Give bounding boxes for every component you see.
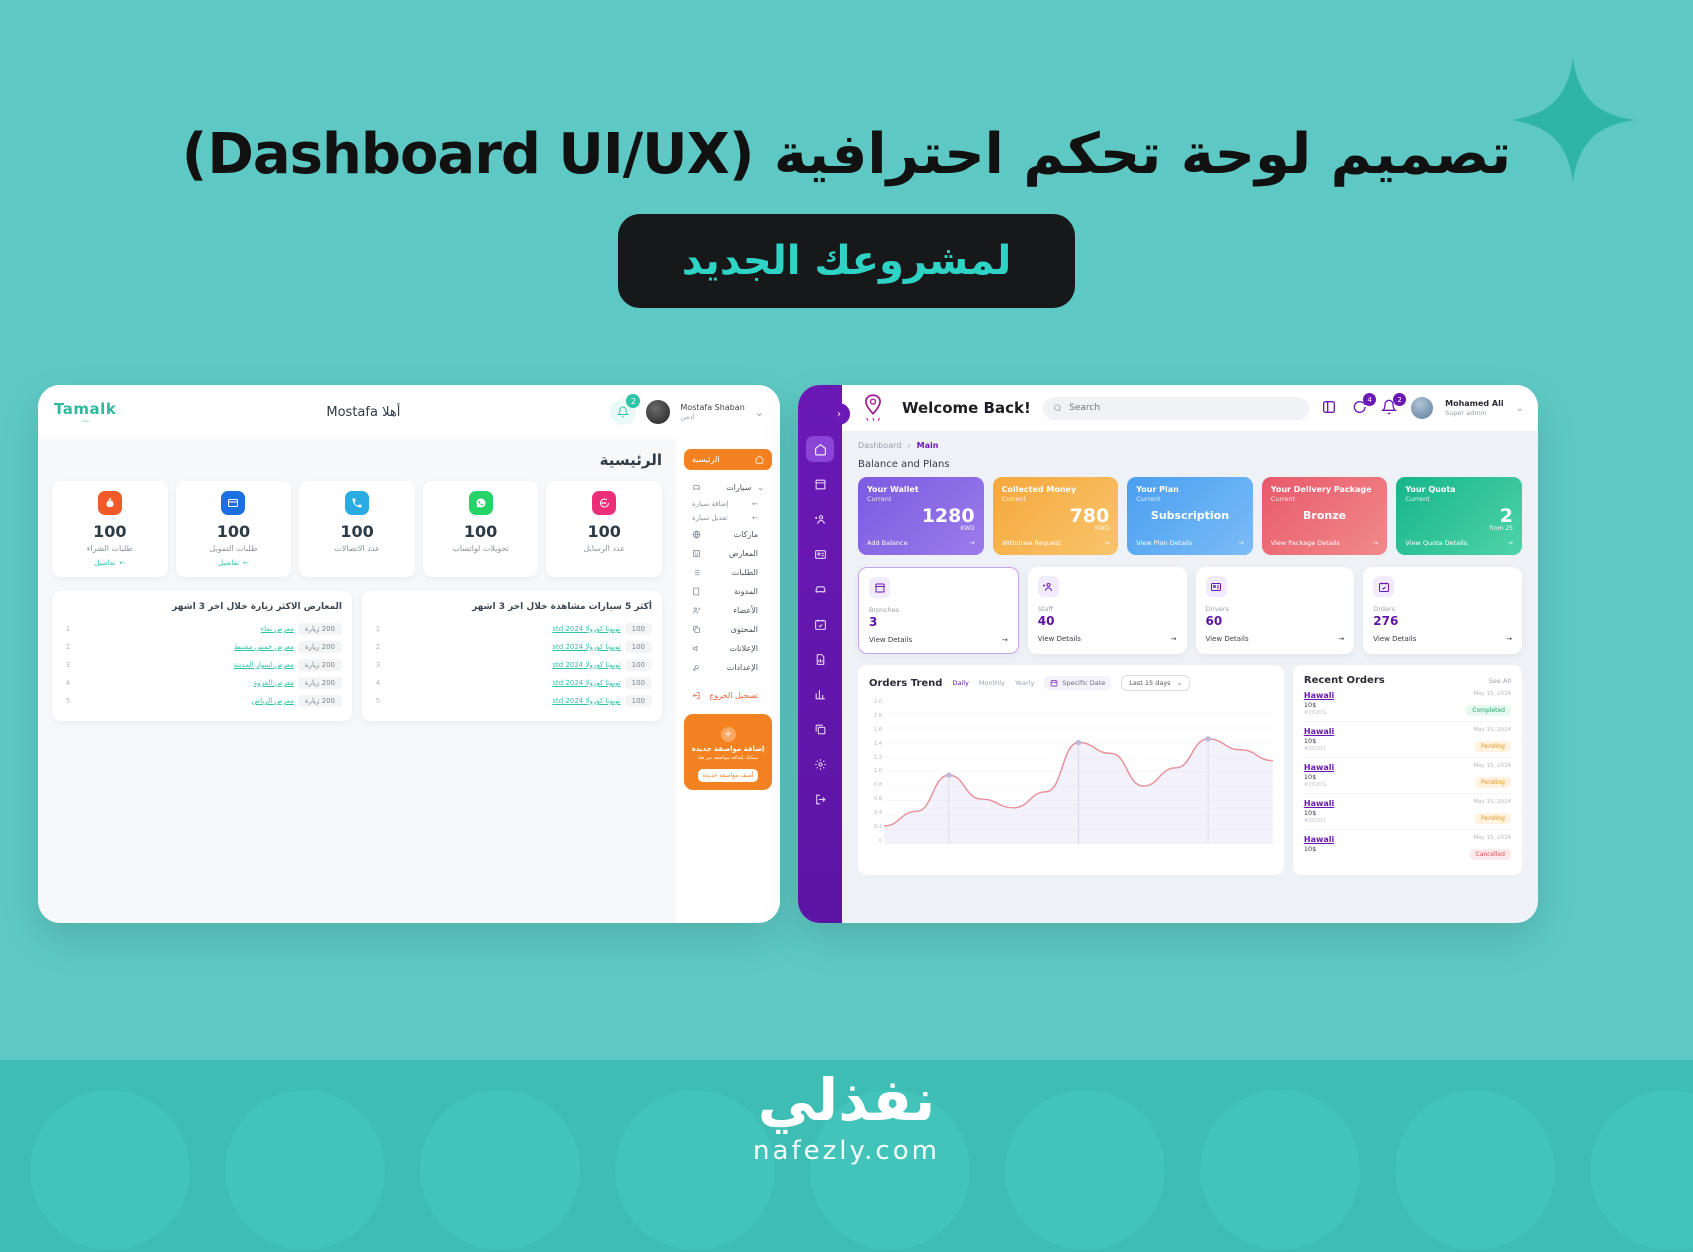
kpi-value: 3 [869,615,1008,629]
stat-value: 100 [305,522,409,541]
table-row[interactable]: 200 زيارة معرض الفروة 4 [62,674,342,692]
order-name[interactable]: Hawali [1304,835,1334,844]
cell-index: 3 [372,661,384,669]
arrow-right-icon: → [1002,636,1008,644]
cell-index: 1 [62,625,74,633]
whatsapp-icon [469,491,493,515]
cell-value: 100 [625,677,652,689]
cell-value: 200 زيارة [298,677,342,689]
order-price: 10$ [1304,809,1334,817]
arrow-right-icon: → [1506,635,1512,643]
kpi-link[interactable]: View Details → [1206,635,1345,643]
sidebar-item-label: إضافة سيارة [692,500,729,508]
plan-subtitle: Current [1002,495,1110,503]
sidebar-item-brands[interactable]: ماركات [684,525,772,544]
stat-more-link[interactable]: ← تفاصيل [58,559,162,567]
kpi-label: Bronches [869,606,1008,614]
stat-card[interactable]: 100 طلبات الشراء ← تفاصيل [52,481,168,577]
kpi-link[interactable]: View Details → [869,636,1008,644]
stat-label: تحويلات لواتساب [429,544,533,553]
cell-value: 200 زيارة [298,695,342,707]
notifications-button[interactable]: 2 [1381,399,1399,417]
stat-card[interactable]: 100 تحويلات لواتساب [423,481,539,577]
plan-word: Subscription [1136,509,1244,522]
kpi-label: Orders [1373,605,1512,613]
logout-icon [692,691,701,700]
chevron-down-icon[interactable]: ⌄ [755,406,764,419]
stat-card[interactable]: 100 عدد الرسايل [546,481,662,577]
poster-headline-block: تصميم لوحة تحكم احترافية (Dashboard UI/U… [0,120,1693,308]
plan-unit: KWD [1002,525,1110,532]
kpi-link-label: View Details [1206,635,1249,643]
cell-index: 3 [62,661,74,669]
order-date: May 15, 2024 [1473,799,1511,805]
order-date: May 15, 2024 [1473,727,1511,733]
plan-cards-row: Your Wallet Current 1280 KWD Add Balance… [858,477,1522,555]
status-badge: Pending [1475,813,1511,824]
chevron-down-icon[interactable]: ⌄ [1516,403,1524,414]
card-icon [221,491,245,515]
order-price: 10$ [1304,737,1334,745]
cell-value: 100 [625,623,652,635]
cell-name[interactable]: تويوتا كورولا 2024 std [384,661,625,669]
sidebar-item-cars[interactable]: ⌄ سيارات [684,478,772,497]
sidebar-item-label: الأعضاء [701,606,764,615]
chart-tab-yearly[interactable]: Yearly [1015,679,1034,687]
table-row[interactable]: 100 تويوتا كورولا 2024 std 3 [372,656,652,674]
plan-value: 780 [1002,505,1110,527]
cell-value: 100 [625,695,652,707]
plan-card-delivery-package[interactable]: Your Delivery Package Current Bronze Vie… [1262,477,1388,555]
chevron-down-icon: ⌄ [757,483,764,492]
cell-name[interactable]: معرض الرياض [74,697,298,705]
kpi-link-label: View Details [1373,635,1416,643]
brand-logo: Tamalk تملك [54,402,116,423]
plan-subtitle: Current [1405,495,1513,503]
cell-name[interactable]: معرض الفروة [74,679,298,687]
section-title: Balance and Plans [858,459,1522,470]
bell-icon [617,406,629,418]
order-price: 10$ [1304,701,1334,709]
promo-button[interactable]: أضف مواصفة جديدة [698,769,759,782]
arabic-user-cluster[interactable]: ⌄ Mostafa Shaban ادمن 2 [610,399,764,425]
arrow-right-icon: → [1373,539,1378,547]
english-topbar: Welcome Back! 4 2 Mohamed [842,385,1538,431]
search-input[interactable] [1069,403,1299,413]
plan-unit: KWD [867,525,975,532]
cell-name[interactable]: معرض اسوار المدينة [74,661,298,669]
top-exhibitions-table: المعارض الاكثر زيارة خلال اخر 3 اشهر 200… [52,591,352,721]
range-select-value: Last 15 days [1129,679,1170,687]
phone-icon [345,491,369,515]
order-date: May 15, 2024 [1473,763,1511,769]
arrow-right-icon: → [1338,635,1344,643]
kpi-card-drivers[interactable]: Drivers 60 View Details → [1196,567,1355,654]
kpi-value: 60 [1206,614,1345,628]
stat-more-label: تفاصيل [218,559,239,567]
cell-index: 2 [372,643,384,651]
plan-card-collected-money[interactable]: Collected Money Current 780 KWD Withdraw… [993,477,1119,555]
recent-orders-header: Recent Orders See All [1304,675,1511,686]
range-select[interactable]: Last 15 days ⌄ [1121,675,1190,691]
wrench-icon [692,663,701,672]
search-bar[interactable] [1043,397,1309,420]
table-row[interactable]: 200 زيارة معرض الرياض 5 [62,692,342,710]
sidebar-item-label: المحتوى [701,625,764,634]
orders-trend-chart: Orders Trend Daily Monthly Yearly Specif… [858,665,1284,875]
cell-name[interactable]: معرض خمس مشبط [74,643,298,651]
kpi-cards-row: Bronches 3 View Details → Staff 40 View … [858,567,1522,654]
stat-label: عدد الاتصالات [305,544,409,553]
order-row[interactable]: Hawali 10$ #20201 May 15, 2024 Completed [1304,686,1511,722]
headline-pill: لمشروعك الجديد [618,214,1076,308]
plan-action[interactable]: View Plan Details → [1136,532,1244,547]
status-badge: Pending [1475,777,1511,788]
english-sidebar-rail [798,385,842,923]
order-id: #20201 [1304,746,1334,752]
notification-badge: 2 [1393,393,1406,406]
add-user-icon [814,513,827,526]
avatar[interactable] [646,400,670,424]
y-tick: 0.2 [869,824,882,830]
order-name[interactable]: Hawali [1304,763,1334,772]
stat-value: 100 [429,522,533,541]
chat-icon [592,491,616,515]
y-tick: 1.4 [869,741,882,747]
cell-name[interactable]: معرض نماء [74,625,298,633]
chart-title: Orders Trend [869,678,942,689]
order-row[interactable]: Hawali 10$ #20201 May 15, 2024 Pending [1304,758,1511,794]
table-title: أكثر 5 سيارات مشاهدة خلال اخر 3 اشهر [372,602,652,612]
home-icon [755,455,764,464]
kpi-card-orders[interactable]: Orders 276 View Details → [1363,567,1522,654]
sidebar-item-label: سيارات [701,483,757,492]
status-badge: Pending [1475,741,1511,752]
plan-action-label: View Package Details [1271,539,1340,547]
table-title: المعارض الاكثر زيارة خلال اخر 3 اشهر [62,602,342,612]
table-row[interactable]: 200 زيارة معرض اسوار المدينة 3 [62,656,342,674]
kpi-card-branches[interactable]: Bronches 3 View Details → [858,567,1019,654]
sidebar-item-vehicles[interactable] [806,576,834,602]
plan-title: Your Plan [1136,485,1244,494]
sidebar-collapse-button[interactable]: › [828,403,850,425]
sidebar-item-staff[interactable] [806,506,834,532]
search-icon [1053,403,1062,413]
sidebar-item-schedule[interactable] [806,611,834,637]
promo-subtitle: يمكنك إضافة مواصفة من هنا [690,755,766,762]
apps-button[interactable] [1321,399,1339,417]
arabic-main-content: الرئيسية 100 عدد الرسايل 100 تحويلات لوا… [38,439,676,923]
chevron-down-icon: ⌄ [1177,679,1182,687]
order-price: 10$ [1304,773,1334,781]
plan-subtitle: Current [1271,495,1379,503]
sidebar-item-label: المعارض [701,549,764,558]
cell-name[interactable]: تويوتا كورولا 2024 std [384,643,625,651]
footer-brand: نفذلي nafezly.com [0,1066,1693,1166]
plan-title: Your Delivery Package [1271,485,1379,494]
copy-icon [692,625,701,634]
sidebar-item-edit-car[interactable]: ← تعديل سيارة [684,511,772,525]
plan-value: 1280 [867,505,975,527]
breadcrumb-current: Main [917,441,939,450]
kpi-card-staff[interactable]: Staff 40 View Details → [1028,567,1187,654]
sidebar-item-content[interactable] [806,716,834,742]
stat-cards-row: 100 عدد الرسايل 100 تحويلات لواتساب 100 … [52,481,662,577]
order-price: 10$ [1304,845,1334,853]
tables-row: أكثر 5 سيارات مشاهدة خلال اخر 3 اشهر 100… [52,591,662,721]
specific-date-button[interactable]: Specific Date [1044,676,1111,690]
list-icon [692,568,701,577]
sidebar-item-exhibitions[interactable]: المعارض [684,544,772,563]
user-name: Mohamed Ali [1445,399,1504,409]
chart-tab-daily[interactable]: Daily [952,679,968,687]
logout-button[interactable]: تسجيل الخروج [684,685,772,706]
kpi-label: Drivers [1206,605,1345,613]
cell-index: 4 [62,679,74,687]
table-row[interactable]: 100 تويوتا كورولا 2024 std 2 [372,638,652,656]
chart-toolbar: Orders Trend Daily Monthly Yearly Specif… [869,675,1273,691]
profile-info[interactable]: Mohamed Ali Super admin [1445,399,1504,418]
y-tick: 0.4 [869,810,882,816]
promo-card[interactable]: + إضافة مواصفة جديدة يمكنك إضافة مواصفة … [684,714,772,790]
chevron-right-icon: › [907,441,910,450]
money-bag-icon [98,491,122,515]
users-icon [692,606,701,615]
order-name[interactable]: Hawali [1304,799,1334,808]
sidebar-item-drivers[interactable] [806,541,834,567]
app-logo-icon [856,391,890,425]
sidebar-item-content[interactable]: المحتوى [684,620,772,639]
kpi-value: 40 [1038,614,1177,628]
english-dashboard-mockup: › Welcome Back! 4 [798,385,1538,923]
calendar-icon [1050,679,1058,687]
promo-title: إضافة مواصفة جديدة [690,745,766,753]
plan-subtitle: Current [1136,495,1244,503]
plan-action-label: View Quota Details [1405,539,1467,547]
sidebar-item-label: الإعدادات [701,663,764,672]
brand-name-en: nafezly.com [0,1136,1693,1166]
sidebar-item-label: تعديل سيارة [692,514,728,522]
sidebar-item-orders[interactable]: الطلبات [684,563,772,582]
sidebar-item-home[interactable]: الرئيسية [684,449,772,470]
stat-more-label: تفاصيل [94,559,115,567]
plan-action-label: Withdraw Request [1002,539,1061,547]
status-badge: Completed [1466,705,1511,716]
section-title: الرئيسية [52,451,662,469]
copy-icon [814,723,827,736]
plan-card-wallet[interactable]: Your Wallet Current 1280 KWD Add Balance… [858,477,984,555]
order-row[interactable]: Hawali 10$ #20201 May 15, 2024 Pending [1304,722,1511,758]
arabic-sidebar: الرئيسية ⌄ سيارات ← إضافة سيارة ← تعديل … [676,439,780,923]
plan-title: Collected Money [1002,485,1110,494]
stat-card[interactable]: 100 طلبات التمويل ← تفاصيل [176,481,292,577]
cell-name[interactable]: تويوتا كورولا 2024 std [384,697,625,705]
sidebar-item-members[interactable]: الأعضاء [684,601,772,620]
order-name[interactable]: Hawali [1304,727,1334,736]
arrow-right-icon: → [1104,539,1109,547]
cell-value: 200 زيارة [298,641,342,653]
table-row[interactable]: 100 تويوتا كورولا 2024 std 1 [372,620,652,638]
id-card-icon [1206,576,1227,597]
arrow-left-icon: ← [119,559,125,567]
kpi-value: 276 [1373,614,1512,628]
plan-title: Your Quota [1405,485,1513,494]
order-row[interactable]: Hawali 10$ #20201 May 15, 2024 Pending [1304,794,1511,830]
y-tick: 1.0 [869,768,882,774]
calendar-check-icon [1373,576,1394,597]
kpi-link[interactable]: View Details → [1038,635,1177,643]
notifications-button[interactable]: 2 [610,399,636,425]
stat-label: طلبات الشراء [58,544,162,553]
sidebar-item-blog[interactable]: المدونة [684,582,772,601]
table-row[interactable]: 200 زيارة معرض خمس مشبط 2 [62,638,342,656]
messages-badge: 4 [1363,393,1376,406]
specific-date-label: Specific Date [1062,679,1105,687]
sidebar-item-label: الرئيسية [692,455,720,464]
arrow-right-icon: → [969,539,974,547]
table-row[interactable]: 100 تويوتا كورولا 2024 std 4 [372,674,652,692]
cell-value: 200 زيارة [298,659,342,671]
arrow-left-icon: ← [752,514,758,522]
order-row[interactable]: Hawali 10$ May 15, 2024 Cancelled [1304,830,1511,865]
add-user-icon [1038,576,1059,597]
table-row[interactable]: 100 تويوتا كورولا 2024 std 5 [372,692,652,710]
plan-card-plan[interactable]: Your Plan Current Subscription View Plan… [1127,477,1253,555]
table-row[interactable]: 200 زيارة معرض نماء 1 [62,620,342,638]
arrow-left-icon: ← [752,500,758,508]
plan-action[interactable]: View Quota Details → [1405,532,1513,547]
user-role: Super admin [1445,409,1504,417]
sidebar-item-label: الإعلانات [701,644,764,653]
sidebar-item-settings[interactable] [806,751,834,777]
car-icon [692,483,701,492]
stat-label: طلبات التمويل [182,544,286,553]
order-date: May 15, 2024 [1466,691,1511,697]
plan-action[interactable]: Add Balance → [867,532,975,547]
order-name[interactable]: Hawali [1304,691,1334,700]
brand-name-ar: نفذلي [0,1066,1693,1134]
notification-badge: 2 [626,394,640,408]
kpi-link[interactable]: View Details → [1373,635,1512,643]
brand-tagline: تملك [81,419,89,423]
recent-orders-title: Recent Orders [1304,675,1385,686]
y-tick: 2.0 [869,699,882,705]
cell-value: 100 [625,659,652,671]
chart-svg [884,699,1273,844]
order-id: #20201 [1304,782,1334,788]
book-icon [692,587,701,596]
y-tick: 1.6 [869,727,882,733]
arabic-dashboard-mockup: ⌄ Mostafa Shaban ادمن 2 أهلا Mostafa Tam… [38,385,780,923]
logout-icon [814,793,827,806]
plan-title: Your Wallet [867,485,975,494]
logout-label: تسجيل الخروج [701,691,764,700]
cell-index: 5 [372,697,384,705]
globe-icon [692,530,701,539]
chart-tab-monthly[interactable]: Monthly [979,679,1005,687]
plan-action[interactable]: View Package Details → [1271,532,1379,547]
kpi-label: Staff [1038,605,1177,613]
sidebar-item-logout[interactable] [806,786,834,812]
cell-index: 4 [372,679,384,687]
english-main-content: Dashboard › Main Balance and Plans Your … [842,431,1538,885]
chart-y-axis: 2.0 1.8 1.6 1.4 1.2 1.0 0.8 0.6 0.4 0.2 … [869,699,884,844]
car-icon [814,583,827,596]
id-card-icon [814,548,827,561]
gear-icon [814,758,827,771]
sidebar-item-add-car[interactable]: ← إضافة سيارة [684,497,772,511]
cell-index: 5 [62,697,74,705]
status-badge: Cancelled [1470,849,1512,860]
sidebar-item-ads[interactable]: الإعلانات [684,639,772,658]
breadcrumb-root[interactable]: Dashboard [858,441,901,450]
cell-name[interactable]: تويوتا كورولا 2024 std [384,625,625,633]
top-cars-table: أكثر 5 سيارات مشاهدة خلال اخر 3 اشهر 100… [362,591,662,721]
sidebar-item-branches[interactable] [806,471,834,497]
plan-subtitle: Current [867,495,975,503]
arrow-right-icon: → [1508,539,1513,547]
sidebar-item-analytics[interactable] [806,681,834,707]
plan-action-label: View Plan Details [1136,539,1192,547]
grid-icon [1321,399,1337,415]
greeting-text: أهلا Mostafa [326,405,400,420]
see-all-link[interactable]: See All [1489,677,1511,685]
page-title: تصميم لوحة تحكم احترافية (Dashboard UI/U… [0,120,1693,190]
stat-card[interactable]: 100 عدد الاتصالات [299,481,415,577]
store-icon [869,577,890,598]
user-name: Mostafa Shaban [680,403,744,413]
welcome-text: Welcome Back! [902,399,1031,417]
home-icon [814,443,827,456]
recent-orders-panel: Recent Orders See All Hawali 10$ #20201 … [1293,665,1522,875]
ad-icon [692,644,701,653]
stat-more-link[interactable]: ← تفاصيل [182,559,286,567]
plus-icon: + [721,727,736,742]
plan-action-label: Add Balance [867,539,908,547]
sidebar-item-reports[interactable] [806,646,834,672]
chart-plot-area: 2.0 1.8 1.6 1.4 1.2 1.0 0.8 0.6 0.4 0.2 … [869,699,1273,844]
cell-name[interactable]: تويوتا كورولا 2024 std [384,679,625,687]
order-date: May 15, 2024 [1470,835,1512,841]
kpi-link-label: View Details [869,636,912,644]
arrow-left-icon: ← [243,559,249,567]
plan-unit: from 25 [1405,525,1513,532]
calendar-check-icon [814,618,827,631]
sidebar-item-label: المدونة [701,587,764,596]
stat-label: عدد الرسايل [552,544,656,553]
sidebar-item-home[interactable] [806,436,834,462]
plan-card-quota[interactable]: Your Quota Current 2 from 25 View Quota … [1396,477,1522,555]
breadcrumb: Dashboard › Main [858,441,1522,450]
messages-button[interactable]: 4 [1351,399,1369,417]
cell-value: 200 زيارة [298,623,342,635]
plan-action[interactable]: Withdraw Request → [1002,532,1110,547]
cell-value: 100 [625,641,652,653]
order-id: #20201 [1304,818,1334,824]
store-icon [814,478,827,491]
user-role: ادمن [680,413,744,422]
building-icon [692,549,701,558]
y-tick: 0 [869,838,882,844]
stat-value: 100 [552,522,656,541]
avatar[interactable] [1411,397,1433,419]
brand-name: Tamalk [54,402,116,417]
report-icon [814,653,827,666]
sidebar-item-settings[interactable]: الإعدادات [684,658,772,677]
stat-value: 100 [58,522,162,541]
y-tick: 0.8 [869,782,882,788]
cell-index: 2 [62,643,74,651]
